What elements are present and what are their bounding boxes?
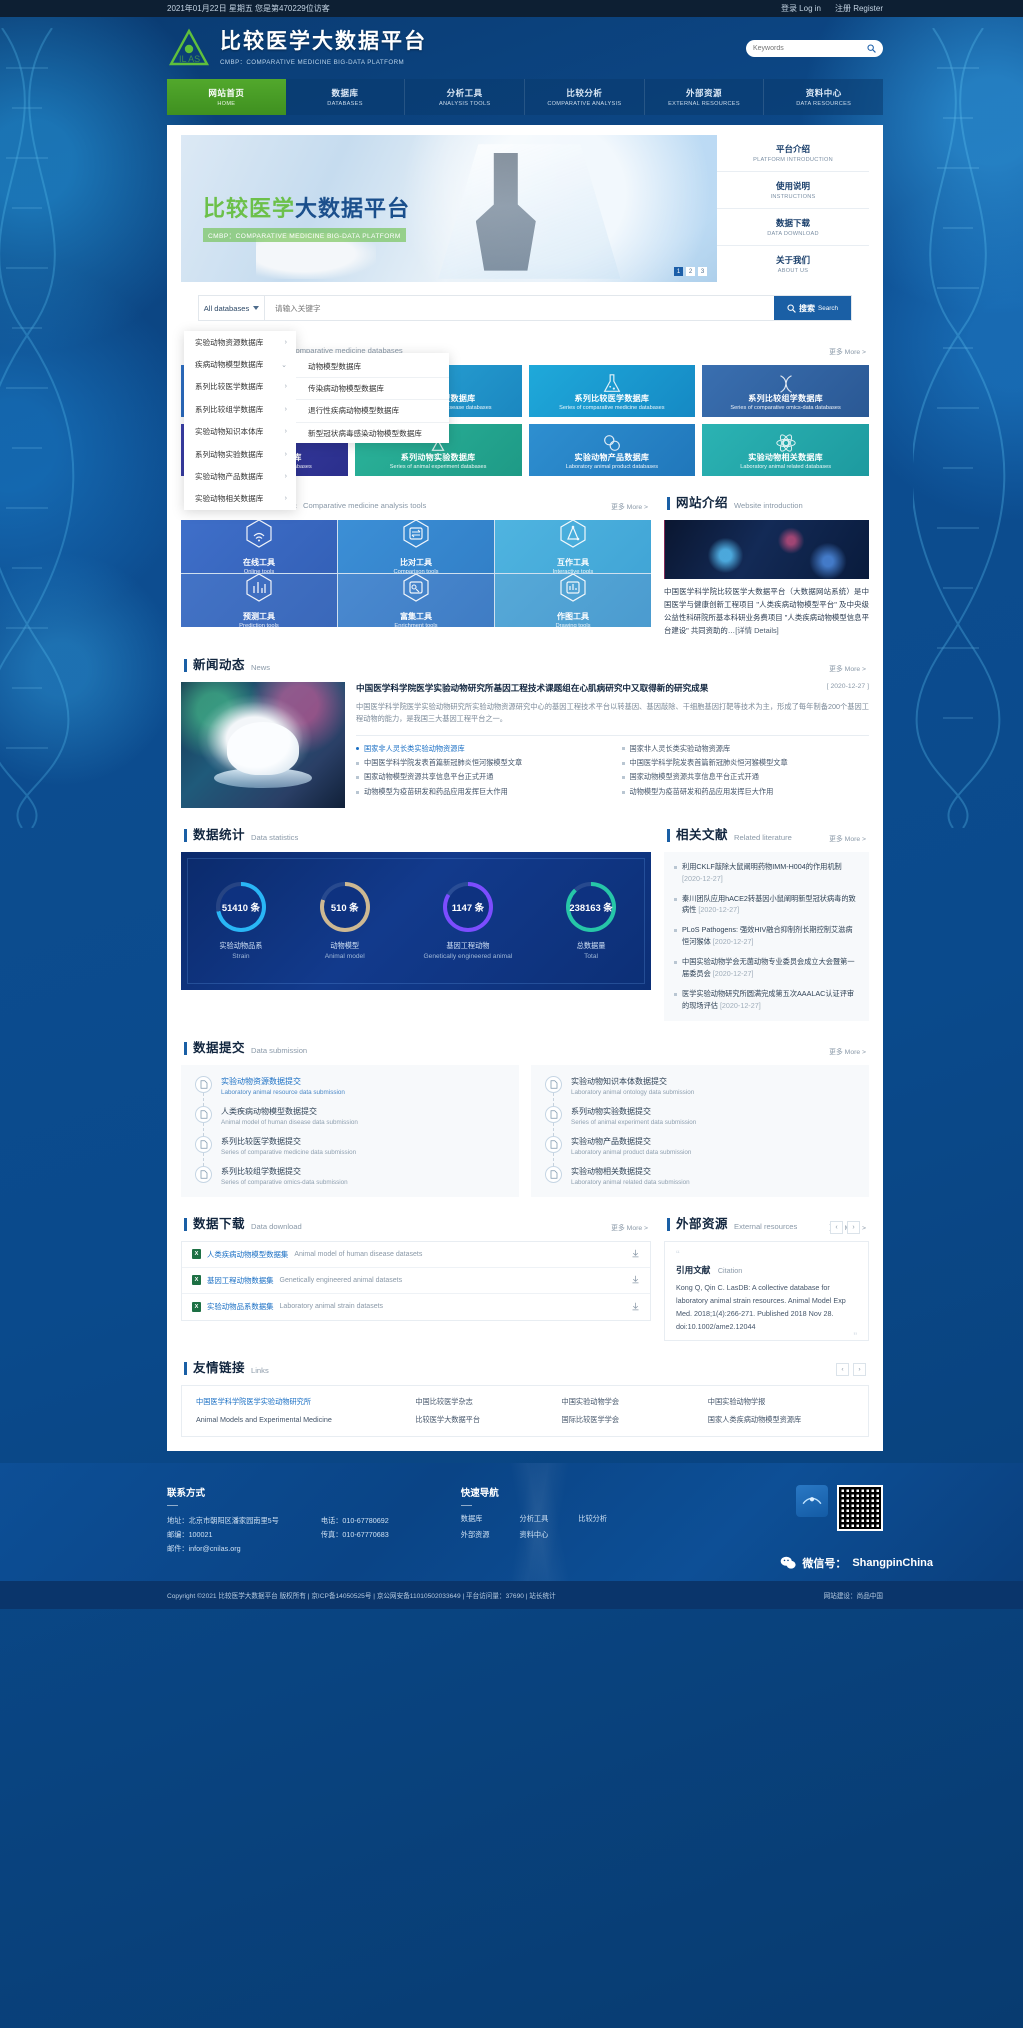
database-card[interactable]: 实验动物产品数据库Laboratory animal product datab… bbox=[529, 424, 696, 476]
literature-item[interactable]: 利用CKLF敲除大鼠阐明药物IMM-H004的作用机制 [2020-12-27] bbox=[674, 861, 859, 885]
section-accent-bar bbox=[184, 829, 187, 842]
tool-card[interactable]: 预测工具Prediction tools bbox=[181, 574, 337, 627]
statistic-item: 238163 条总数据量Total bbox=[566, 882, 616, 960]
footer-quick-link[interactable]: 分析工具 bbox=[520, 1514, 549, 1524]
literature-list: 利用CKLF敲除大鼠阐明药物IMM-H004的作用机制 [2020-12-27]… bbox=[664, 852, 869, 1021]
wechat-banner: 微信号： ShangpinChina bbox=[780, 1555, 933, 1571]
site-header: IL AS 比较医学大数据平台 CMBP：COMPARATIVE MEDICIN… bbox=[0, 17, 1023, 79]
dropdown-item-label: 疾病动物模型数据库 bbox=[195, 359, 263, 370]
literature-text: 秦川团队应用hACE2转基因小鼠阐明新型冠状病毒的致病性 [2020-12-27… bbox=[682, 893, 859, 917]
download-name-en: Laboratory animal strain datasets bbox=[280, 1303, 384, 1310]
friendly-link[interactable]: 中国比较医学杂志 bbox=[415, 1397, 561, 1407]
dropdown-item[interactable]: 实验动物产品数据库› bbox=[184, 465, 296, 487]
header-search[interactable] bbox=[746, 40, 883, 57]
dropdown-submenu-item[interactable]: 传染病动物模型数据库 bbox=[296, 378, 449, 400]
nav-label-en: DATA RESOURCES bbox=[796, 101, 851, 107]
submission-label-cn: 人类疾病动物模型数据提交 bbox=[221, 1106, 358, 1117]
top-utility-bar: 2021年01月22日 星期五 您是第470229位访客 登录 Log in 注… bbox=[0, 0, 1023, 17]
submission-block: 实验动物资源数据提交Laboratory animal resource dat… bbox=[181, 1065, 869, 1197]
site-footer: 返回顶部 联系方式 地址：北京市朝阳区潘家园南里5号 邮编：100021 邮件：… bbox=[0, 1463, 1023, 1581]
friendly-link[interactable]: 中国实验动物学会 bbox=[562, 1397, 708, 1407]
nav-label-cn: 网站首页 bbox=[208, 87, 244, 99]
friendly-link[interactable]: 国际比较医学学会 bbox=[562, 1415, 708, 1425]
dropdown-item-label: 实验动物资源数据库 bbox=[195, 337, 263, 348]
submission-label-cn: 实验动物资源数据提交 bbox=[221, 1076, 345, 1087]
section-accent-bar bbox=[184, 1362, 187, 1375]
citation-title-cn: 引用文献 bbox=[676, 1265, 710, 1275]
banner-side-en: INSTRUCTIONS bbox=[771, 194, 816, 200]
download-row[interactable]: X基因工程动物数据集Genetically engineered animal … bbox=[182, 1268, 650, 1294]
dropdown-item[interactable]: 实验动物资源数据库› bbox=[184, 331, 296, 353]
submission-label-en: Series of animal experiment data submiss… bbox=[571, 1119, 696, 1126]
nav-item-databases[interactable]: 数据库DATABASES bbox=[286, 79, 406, 115]
dropdown-item[interactable]: 系列动物实验数据库› bbox=[184, 443, 296, 465]
site-title-cn: 比较医学大数据平台 bbox=[220, 30, 427, 54]
statistic-item: 51410 条实验动物品系Strain bbox=[216, 882, 266, 960]
nav-label-cn: 数据库 bbox=[332, 87, 359, 99]
banner-side-en: ABOUT US bbox=[778, 268, 809, 274]
qr-pattern bbox=[839, 1487, 881, 1529]
database-card-title-cn: 系列比较医学数据库 bbox=[575, 393, 650, 404]
news-title-cn: 新闻动态 bbox=[193, 654, 245, 673]
bullet-icon bbox=[674, 993, 677, 996]
nav-label-cn: 比较分析 bbox=[566, 87, 602, 99]
chevron-right-icon: › bbox=[285, 495, 287, 502]
nav-item-home[interactable]: 网站首页HOME bbox=[167, 79, 286, 115]
download-section-header: 数据下载 Data download 更多 More > bbox=[184, 1213, 648, 1232]
submission-label-en: Animal model of human disease data submi… bbox=[221, 1119, 358, 1126]
banner-image: 比较医学大数据平台 CMBP：COMPARATIVE MEDICINE BIG-… bbox=[181, 135, 717, 282]
banner-dot-1[interactable]: 1 bbox=[674, 267, 683, 276]
chevron-down-icon bbox=[253, 306, 259, 310]
visitor-info: 2021年01月22日 星期五 您是第470229位访客 bbox=[167, 3, 330, 14]
dropdown-level1: 实验动物资源数据库›疾病动物模型数据库⌄系列比较医学数据库›系列比较组学数据库›… bbox=[184, 331, 296, 510]
section-accent-bar bbox=[184, 1218, 187, 1231]
statistics-panel: 51410 条实验动物品系Strain510 条动物模型Animal model… bbox=[181, 852, 651, 990]
banner-side-cn: 平台介绍 bbox=[776, 143, 810, 155]
tool-card-title-en: Interactive tools bbox=[553, 569, 594, 574]
friendly-link[interactable]: 国家人类疾病动物模型资源库 bbox=[708, 1415, 854, 1425]
database-dropdown-menu: 实验动物资源数据库›疾病动物模型数据库⌄系列比较医学数据库›系列比较组学数据库›… bbox=[184, 331, 449, 510]
literature-text: 利用CKLF敲除大鼠阐明药物IMM-H004的作用机制 [2020-12-27] bbox=[682, 861, 859, 885]
literature-text: PLoS Pathogens: 强效HIV融合抑制剂长期控制艾滋病恒河猴体 [2… bbox=[682, 924, 859, 948]
download-name-cn: 人类疾病动物模型数据集 bbox=[207, 1249, 288, 1260]
download-more-link[interactable]: 更多 More > bbox=[611, 1222, 648, 1232]
news-headline[interactable]: 中国医学科学院医学实验动物研究所基因工程技术课题组在心肌病研究中又取得新的研究成… bbox=[356, 682, 819, 695]
literature-title-en: Related literature bbox=[734, 833, 792, 842]
literature-item[interactable]: 医学实验动物研究所圆满完成第五次AAALAC认证评审的现场评估 [2020-12… bbox=[674, 988, 859, 1012]
news-list-item[interactable]: 动物模型为疫苗研发和药品应用发挥巨大作用 bbox=[356, 785, 604, 799]
submission-labels: 实验动物相关数据提交Laboratory animal related data… bbox=[571, 1166, 690, 1186]
copyright-text: Copyright ©2021 比较医学大数据平台 版权所有 | 京ICP备14… bbox=[167, 1590, 556, 1600]
intro-image bbox=[664, 520, 869, 579]
footer-quick-link[interactable]: 数据库 bbox=[461, 1514, 490, 1524]
statistic-label-cn: 实验动物品系 bbox=[219, 941, 262, 951]
statistic-value: 238163 条 bbox=[569, 900, 612, 914]
statistic-label-en: Strain bbox=[232, 953, 249, 960]
statistic-value: 510 条 bbox=[331, 900, 359, 914]
submission-more-link[interactable]: 更多 More > bbox=[829, 1046, 866, 1056]
links-title-en: Links bbox=[251, 1366, 269, 1375]
banner-side-item[interactable]: 关于我们ABOUT US bbox=[717, 246, 869, 282]
news-list-label: 动物模型为疫苗研发和药品应用发挥巨大作用 bbox=[630, 785, 774, 799]
news-list-label: 国家非人灵长类实验动物资源库 bbox=[630, 742, 731, 756]
statistic-label-cn: 总数据量 bbox=[577, 941, 606, 951]
news-main: 中国医学科学院医学实验动物研究所基因工程技术课题组在心肌病研究中又取得新的研究成… bbox=[356, 682, 869, 808]
nav-label-cn: 外部资源 bbox=[686, 87, 722, 99]
svg-text:IL AS: IL AS bbox=[179, 54, 200, 64]
literature-title-cn: 相关文献 bbox=[676, 824, 728, 843]
dropdown-item[interactable]: 实验动物相关数据库› bbox=[184, 488, 296, 510]
submission-label-cn: 系列动物实验数据提交 bbox=[571, 1106, 696, 1117]
dropdown-submenu-item[interactable]: 动物模型数据库 bbox=[296, 355, 449, 377]
document-icon bbox=[545, 1076, 562, 1093]
chart-hex-icon bbox=[245, 574, 273, 607]
section-accent-bar bbox=[667, 829, 670, 842]
tool-card[interactable]: 作图工具Drawing tools bbox=[495, 574, 651, 627]
search-button-label-en: Search bbox=[818, 305, 838, 312]
excel-file-icon: X bbox=[192, 1302, 201, 1312]
network-hex-icon bbox=[559, 520, 587, 553]
submission-item[interactable]: 人类疾病动物模型数据提交Animal model of human diseas… bbox=[195, 1106, 505, 1136]
news-thumbnail[interactable] bbox=[181, 682, 345, 808]
submission-labels: 实验动物资源数据提交Laboratory animal resource dat… bbox=[221, 1076, 345, 1096]
section-accent-bar bbox=[667, 497, 670, 510]
progress-ring: 238163 条 bbox=[566, 882, 616, 932]
literature-column: 相关文献 Related literature 更多 More > 利用CKLF… bbox=[664, 808, 869, 1021]
news-more-link[interactable]: 更多 More > bbox=[829, 663, 866, 673]
database-card[interactable]: 系列比较医学数据库Series of comparative medicine … bbox=[529, 365, 696, 417]
external-title-en: External resources bbox=[734, 1222, 797, 1231]
nav-item-external-resources[interactable]: 外部资源EXTERNAL RESOURCES bbox=[645, 79, 765, 115]
download-row[interactable]: X实验动物品系数据集Laboratory animal strain datas… bbox=[182, 1294, 650, 1320]
copyright-bar: Copyright ©2021 比较医学大数据平台 版权所有 | 京ICP备14… bbox=[0, 1581, 1023, 1609]
bullet-icon bbox=[356, 791, 359, 794]
citation-title: 引用文献 Citation bbox=[676, 1260, 857, 1278]
search-icon[interactable] bbox=[867, 44, 876, 53]
download-icon[interactable] bbox=[631, 1298, 640, 1316]
external-column: 外部资源 External resources 更多 More > ‹ › “ … bbox=[664, 1197, 869, 1341]
submission-label-cn: 实验动物知识本体数据提交 bbox=[571, 1076, 694, 1087]
news-list-item[interactable]: 中国医学科学院发表首篇新冠肺炎恒河猴模型文章 bbox=[356, 756, 604, 770]
literature-item[interactable]: 中国实验动物学会无菌动物专业委员会成立大会暨第一届委员会 [2020-12-27… bbox=[674, 956, 859, 980]
stats-literature-row: 数据统计 Data statistics 51410 条实验动物品系Strain… bbox=[181, 808, 869, 1021]
submission-label-en: Series of comparative medicine data subm… bbox=[221, 1149, 356, 1156]
wechat-icon bbox=[780, 1556, 796, 1570]
bullet-icon bbox=[622, 762, 625, 765]
chevron-right-icon: › bbox=[285, 383, 287, 390]
friendly-link[interactable]: Animal Models and Experimental Medicine bbox=[196, 1415, 415, 1425]
document-icon bbox=[195, 1076, 212, 1093]
carousel-prev-icon[interactable]: ‹ bbox=[830, 1221, 843, 1234]
download-external-row: 数据下载 Data download 更多 More > X人类疾病动物模型数据… bbox=[181, 1197, 869, 1341]
news-list-left: 国家非人灵长类实验动物资源库中国医学科学院发表首篇新冠肺炎恒河猴模型文章国家动物… bbox=[356, 742, 604, 800]
bullet-icon bbox=[356, 747, 359, 750]
section-accent-bar bbox=[184, 1042, 187, 1055]
cnilas-logo-icon: IL AS bbox=[167, 28, 211, 68]
submission-item[interactable]: 实验动物产品数据提交Laboratory animal product data… bbox=[545, 1136, 855, 1166]
site-title-en: CMBP：COMPARATIVE MEDICINE BIG-DATA PLATF… bbox=[220, 57, 427, 66]
tool-card-title-cn: 富集工具 bbox=[400, 611, 432, 622]
submission-labels: 系列比较医学数据提交Series of comparative medicine… bbox=[221, 1136, 356, 1156]
document-icon bbox=[195, 1106, 212, 1123]
literature-more-link[interactable]: 更多 More > bbox=[829, 833, 866, 843]
submission-col-left: 实验动物资源数据提交Laboratory animal resource dat… bbox=[181, 1065, 519, 1197]
download-list: X人类疾病动物模型数据集Animal model of human diseas… bbox=[181, 1241, 651, 1321]
dropdown-item-label: 实验动物产品数据库 bbox=[195, 471, 263, 482]
banner-side-cn: 使用说明 bbox=[776, 180, 810, 192]
wechat-qr-code bbox=[837, 1485, 883, 1531]
tool-card-title-cn: 作图工具 bbox=[557, 611, 589, 622]
submission-label-cn: 系列比较医学数据提交 bbox=[221, 1136, 356, 1147]
database-card[interactable]: 实验动物相关数据库Laboratory animal related datab… bbox=[702, 424, 869, 476]
statistic-item: 510 条动物模型Animal model bbox=[320, 882, 370, 960]
footer-content: 联系方式 地址：北京市朝阳区潘家园南里5号 邮编：100021 邮件：infor… bbox=[167, 1485, 883, 1556]
timeline-connector bbox=[203, 1123, 204, 1136]
bullet-icon bbox=[674, 898, 677, 901]
tool-card-title-en: Drawing tools bbox=[555, 623, 590, 628]
chevron-right-icon: › bbox=[285, 428, 287, 435]
news-list-label: 国家非人灵长类实验动物资源库 bbox=[364, 742, 465, 756]
links-title-cn: 友情链接 bbox=[193, 1357, 245, 1376]
links-next-icon[interactable]: › bbox=[853, 1363, 866, 1376]
tool-card[interactable]: 比对工具Comparison tools bbox=[338, 520, 494, 573]
submission-label-cn: 实验动物相关数据提交 bbox=[571, 1166, 690, 1177]
chevron-right-icon: › bbox=[285, 473, 287, 480]
dropdown-level2: 动物模型数据库传染病动物模型数据库退行性疾病动物模型数据库新型冠状病毒感染动物模… bbox=[296, 353, 449, 443]
submission-item[interactable]: 系列动物实验数据提交Series of animal experiment da… bbox=[545, 1106, 855, 1136]
search-button[interactable]: 搜索 Search bbox=[774, 296, 851, 320]
contact-email[interactable]: 邮件：infor@cnilas.org bbox=[167, 1542, 279, 1556]
heading-rule bbox=[167, 1505, 178, 1506]
friendly-link[interactable]: 比较医学大数据平台 bbox=[415, 1415, 561, 1425]
chevron-right-icon: › bbox=[285, 406, 287, 413]
submission-labels: 实验动物知识本体数据提交Laboratory animal ontology d… bbox=[571, 1076, 694, 1096]
statistic-label-cn: 动物模型 bbox=[330, 941, 359, 951]
friendly-link[interactable]: 中国医学科学院医学实验动物研究所 bbox=[196, 1397, 415, 1407]
dropdown-item-label: 系列动物实验数据库 bbox=[195, 449, 263, 460]
submission-labels: 实验动物产品数据提交Laboratory animal product data… bbox=[571, 1136, 691, 1156]
news-headline-row: 中国医学科学院医学实验动物研究所基因工程技术课题组在心肌病研究中又取得新的研究成… bbox=[356, 682, 869, 695]
literature-date: [2020-12-27] bbox=[713, 937, 754, 946]
links-carousel-nav: ‹ › bbox=[836, 1363, 866, 1376]
download-name-en: Animal model of human disease datasets bbox=[294, 1251, 422, 1258]
dropdown-item[interactable]: 疾病动物模型数据库⌄ bbox=[184, 353, 296, 375]
footer-quick-link[interactable]: 资料中心 bbox=[520, 1530, 549, 1540]
databases-more-link[interactable]: 更多 More > bbox=[829, 346, 866, 356]
global-search-bar: All databases 搜索 Search bbox=[198, 295, 852, 321]
quote-open-icon: “ bbox=[676, 1252, 857, 1259]
banner-title-blue: 大数据平台 bbox=[295, 196, 410, 221]
excel-file-icon: X bbox=[192, 1275, 201, 1285]
footer-quick-link[interactable]: 比较分析 bbox=[578, 1514, 607, 1524]
news-description: 中国医学科学院医学实验动物研究所实验动物资源研究中心的基因工程技术平台以转基因、… bbox=[356, 701, 869, 725]
tool-card-title-cn: 在线工具 bbox=[243, 557, 275, 568]
tool-card-title-en: Comparison tools bbox=[393, 569, 438, 574]
friendly-link[interactable]: 中国实验动物学报 bbox=[708, 1397, 854, 1407]
bullet-icon bbox=[622, 776, 625, 779]
dropdown-item[interactable]: 系列比较医学数据库› bbox=[184, 376, 296, 398]
submission-item[interactable]: 实验动物知识本体数据提交Laboratory animal ontology d… bbox=[545, 1076, 855, 1106]
intro-title-en: Website introduction bbox=[734, 501, 803, 510]
register-link[interactable]: 注册 Register bbox=[835, 3, 883, 14]
nav-label-en: HOME bbox=[217, 101, 235, 107]
progress-ring: 510 条 bbox=[320, 882, 370, 932]
news-list-item[interactable]: 国家非人灵长类实验动物资源库 bbox=[622, 742, 870, 756]
news-list-item[interactable]: 国家动物模型资源共享信息平台正式开通 bbox=[356, 770, 604, 784]
dropdown-submenu-item[interactable]: 退行性疾病动物模型数据库 bbox=[296, 400, 449, 422]
nav-label-cn: 分析工具 bbox=[447, 87, 483, 99]
intro-details-link[interactable]: [详情 Details] bbox=[735, 626, 779, 635]
footer-quick-link[interactable]: 外部资源 bbox=[461, 1530, 490, 1540]
banner-side-en: PLATFORM INTRODUCTION bbox=[753, 157, 833, 163]
news-list-item[interactable]: 国家非人灵长类实验动物资源库 bbox=[356, 742, 604, 756]
literature-item[interactable]: 秦川团队应用hACE2转基因小鼠阐明新型冠状病毒的致病性 [2020-12-27… bbox=[674, 893, 859, 917]
literature-date: [2020-12-27] bbox=[720, 1001, 761, 1010]
news-list-label: 国家动物模型资源共享信息平台正式开通 bbox=[364, 770, 493, 784]
banner-side-item[interactable]: 使用说明INSTRUCTIONS bbox=[717, 172, 869, 209]
bar-hex-icon bbox=[559, 574, 587, 607]
database-card-title-en: Laboratory animal related databases bbox=[740, 464, 831, 470]
news-list-item[interactable]: 动物模型为疫苗研发和药品应用发挥巨大作用 bbox=[622, 785, 870, 799]
dropdown-item[interactable]: 系列比较组学数据库› bbox=[184, 398, 296, 420]
tool-card[interactable]: 互作工具Interactive tools bbox=[495, 520, 651, 573]
download-icon[interactable] bbox=[631, 1245, 640, 1263]
dropdown-item[interactable]: 实验动物知识本体库› bbox=[184, 421, 296, 443]
statistic-item: 1147 条基因工程动物Genetically engineered anima… bbox=[424, 882, 513, 960]
cluster-hex-icon bbox=[402, 574, 430, 607]
submission-item[interactable]: 系列比较医学数据提交Series of comparative medicine… bbox=[195, 1136, 505, 1166]
download-name-cn: 基因工程动物数据集 bbox=[207, 1275, 274, 1286]
tool-card-title-cn: 比对工具 bbox=[400, 557, 432, 568]
links-prev-icon[interactable]: ‹ bbox=[836, 1363, 849, 1376]
banner-dot-2[interactable]: 2 bbox=[686, 267, 695, 276]
submission-label-en: Laboratory animal ontology data submissi… bbox=[571, 1089, 694, 1096]
main-navigation: 网站首页HOME数据库DATABASES分析工具ANALYSIS TOOLS比较… bbox=[167, 79, 883, 115]
banner-side-item[interactable]: 数据下载DATA DOWNLOAD bbox=[717, 209, 869, 246]
statistic-label-en: Animal model bbox=[325, 953, 365, 960]
links-section-header: 友情链接 Links ‹ › bbox=[184, 1357, 866, 1376]
nav-label-en: ANALYSIS TOOLS bbox=[439, 101, 490, 107]
bullet-icon bbox=[356, 762, 359, 765]
dropdown-item-label: 实验动物相关数据库 bbox=[195, 493, 263, 504]
excel-file-icon: X bbox=[192, 1249, 201, 1259]
nav-label-en: EXTERNAL RESOURCES bbox=[668, 101, 740, 107]
intro-paragraph: 中国医学科学院比较医学大数据平台（大数据网站系统）是中国医学与健康创新工程项目 … bbox=[664, 586, 869, 638]
bullet-icon bbox=[356, 776, 359, 779]
submission-item[interactable]: 实验动物资源数据提交Laboratory animal resource dat… bbox=[195, 1076, 505, 1106]
banner-side-cn: 数据下载 bbox=[776, 217, 810, 229]
submission-label-cn: 系列比较组学数据提交 bbox=[221, 1166, 348, 1177]
news-list-label: 中国医学科学院发表首篇新冠肺炎恒河猴模型文章 bbox=[364, 756, 522, 770]
carousel-next-icon[interactable]: › bbox=[847, 1221, 860, 1234]
progress-ring: 51410 条 bbox=[216, 882, 266, 932]
news-section-header: 新闻动态 News 更多 More > bbox=[184, 654, 866, 673]
news-list-item[interactable]: 国家动物模型资源共享信息平台正式开通 bbox=[622, 770, 870, 784]
banner-side-cn: 关于我们 bbox=[776, 254, 810, 266]
wechat-label: 微信号： bbox=[802, 1555, 846, 1571]
wechat-name: ShangpinChina bbox=[852, 1557, 933, 1569]
citation-card: ‹ › “ 引用文献 Citation Kong Q, Qin C. LasDB… bbox=[664, 1241, 869, 1341]
statistic-label-en: Total bbox=[584, 953, 598, 960]
news-list-label: 中国医学科学院发表首篇新冠肺炎恒河猴模型文章 bbox=[630, 756, 788, 770]
global-search-input[interactable] bbox=[265, 296, 774, 320]
site-builder-credit: 网站建设：尚品中国 bbox=[824, 1590, 883, 1600]
chevron-right-icon: › bbox=[285, 339, 287, 346]
timeline-connector bbox=[203, 1153, 204, 1166]
banner-pagination: 123 bbox=[674, 267, 707, 276]
document-icon bbox=[195, 1166, 212, 1183]
submission-label-en: Laboratory animal related data submissio… bbox=[571, 1179, 690, 1186]
database-card-title-cn: 系列比较组学数据库 bbox=[748, 393, 823, 404]
bullet-icon bbox=[674, 961, 677, 964]
banner-side-menu: 平台介绍PLATFORM INTRODUCTION使用说明INSTRUCTION… bbox=[717, 135, 869, 282]
download-title-cn: 数据下载 bbox=[193, 1213, 245, 1232]
literature-date: [2020-12-27] bbox=[713, 969, 754, 978]
quote-close-icon: ” bbox=[676, 1334, 857, 1341]
news-list-right: 国家非人灵长类实验动物资源库中国医学科学院发表首篇新冠肺炎恒河猴模型文章国家动物… bbox=[622, 742, 870, 800]
nav-item-data-resources[interactable]: 资料中心DATA RESOURCES bbox=[764, 79, 883, 115]
submission-item[interactable]: 系列比较组学数据提交Series of comparative omics-da… bbox=[195, 1166, 505, 1186]
nav-item-analysis-tools[interactable]: 分析工具ANALYSIS TOOLS bbox=[405, 79, 525, 115]
news-list-item[interactable]: 中国医学科学院发表首篇新冠肺炎恒河猴模型文章 bbox=[622, 756, 870, 770]
external-carousel-nav: ‹ › bbox=[830, 1221, 860, 1234]
citation-body: Kong Q, Qin C. LasDB: A collective datab… bbox=[676, 1281, 857, 1333]
database-card-title-en: Laboratory animal product databases bbox=[566, 464, 658, 470]
login-link[interactable]: 登录 Log in bbox=[781, 3, 821, 14]
timeline-connector bbox=[203, 1093, 204, 1106]
header-search-input[interactable] bbox=[753, 45, 863, 52]
tools-more-link[interactable]: 更多 More > bbox=[611, 501, 648, 511]
banner-side-item[interactable]: 平台介绍PLATFORM INTRODUCTION bbox=[717, 135, 869, 172]
stats-section-header: 数据统计 Data statistics bbox=[184, 824, 648, 843]
news-title-en: News bbox=[251, 663, 270, 672]
banner-lab-coat bbox=[438, 144, 620, 279]
submission-item[interactable]: 实验动物相关数据提交Laboratory animal related data… bbox=[545, 1166, 855, 1186]
nav-item-comparative-analysis[interactable]: 比较分析COMPARATIVE ANALYSIS bbox=[525, 79, 645, 115]
banner-dot-3[interactable]: 3 bbox=[698, 267, 707, 276]
site-logo[interactable]: IL AS 比较医学大数据平台 CMBP：COMPARATIVE MEDICIN… bbox=[167, 28, 427, 68]
submission-section-header: 数据提交 Data submission 更多 More > bbox=[184, 1037, 866, 1056]
intro-title-cn: 网站介绍 bbox=[676, 492, 728, 511]
submission-label-en: Laboratory animal resource data submissi… bbox=[221, 1089, 345, 1096]
download-title-en: Data download bbox=[251, 1222, 302, 1231]
submission-labels: 系列动物实验数据提交Series of animal experiment da… bbox=[571, 1106, 696, 1126]
download-row[interactable]: X人类疾病动物模型数据集Animal model of human diseas… bbox=[182, 1242, 650, 1268]
download-name-en: Genetically engineered animal datasets bbox=[280, 1277, 403, 1284]
hero-banner: 比较医学大数据平台 CMBP：COMPARATIVE MEDICINE BIG-… bbox=[181, 135, 869, 282]
tool-card-grid: 在线工具Online tools比对工具Comparison tools互作工具… bbox=[181, 520, 651, 627]
timeline-connector bbox=[553, 1093, 554, 1106]
stats-title-en: Data statistics bbox=[251, 833, 298, 842]
banner-title: 比较医学大数据平台 CMBP：COMPARATIVE MEDICINE BIG-… bbox=[203, 191, 410, 243]
contact-columns: 地址：北京市朝阳区潘家园南里5号 邮编：100021 邮件：infor@cnil… bbox=[167, 1514, 389, 1556]
tool-card[interactable]: 在线工具Online tools bbox=[181, 520, 337, 573]
tool-card[interactable]: 富集工具Enrichment tools bbox=[338, 574, 494, 627]
dropdown-submenu-item[interactable]: 新型冠状病毒感染动物模型数据库 bbox=[296, 423, 449, 445]
statistic-label-cn: 基因工程动物 bbox=[446, 941, 489, 951]
literature-text: 医学实验动物研究所圆满完成第五次AAALAC认证评审的现场评估 [2020-12… bbox=[682, 988, 859, 1012]
page-frame: 2021年01月22日 星期五 您是第470229位访客 登录 Log in 注… bbox=[0, 0, 1023, 2028]
submission-labels: 人类疾病动物模型数据提交Animal model of human diseas… bbox=[221, 1106, 358, 1126]
database-scope-select[interactable]: All databases bbox=[199, 296, 265, 320]
dropdown-item-label: 系列比较组学数据库 bbox=[195, 404, 263, 415]
download-icon[interactable] bbox=[631, 1271, 640, 1289]
literature-item[interactable]: PLoS Pathogens: 强效HIV融合抑制剂长期控制艾滋病恒河猴体 [2… bbox=[674, 924, 859, 948]
database-card[interactable]: 系列比较组学数据库Series of comparative omics-dat… bbox=[702, 365, 869, 417]
institute-badge-icon bbox=[796, 1485, 828, 1517]
heading-rule bbox=[461, 1505, 472, 1506]
